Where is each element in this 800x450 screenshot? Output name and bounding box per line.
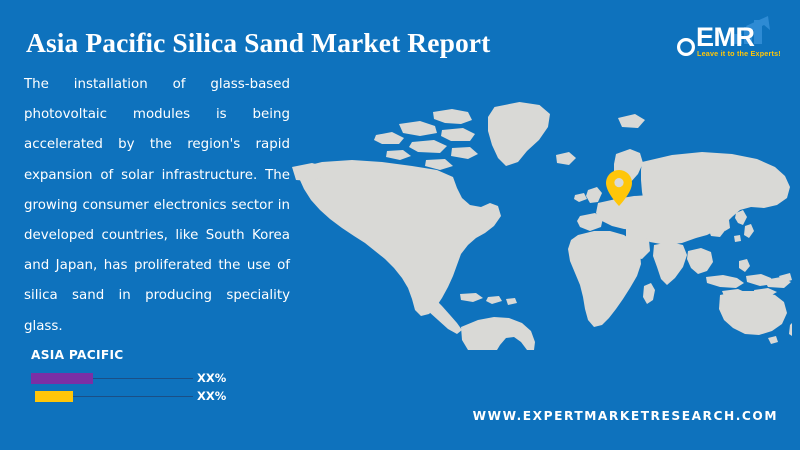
map-pin-asia-pacific — [606, 170, 632, 206]
legend-connector-line — [73, 396, 193, 397]
emr-logo[interactable]: EMR Leave it to the Experts! — [676, 14, 780, 62]
logo-ring-icon — [679, 40, 694, 55]
world-map — [292, 92, 792, 350]
legend-bar-purple — [31, 373, 93, 384]
legend-value: XX% — [197, 389, 231, 403]
legend: ASIA PACIFIC XX% XX% — [31, 348, 231, 406]
legend-connector-line — [93, 378, 193, 379]
footer-website-url[interactable]: WWW.EXPERTMARKETRESEARCH.COM — [0, 409, 778, 423]
page-title: Asia Pacific Silica Sand Market Report — [26, 26, 546, 60]
logo-tagline: Leave it to the Experts! — [697, 49, 780, 58]
world-map-landmasses — [292, 102, 792, 350]
logo-wordmark: EMR — [696, 22, 755, 52]
body-paragraph: The installation of glass-based photovol… — [24, 70, 290, 342]
legend-item: XX% — [31, 370, 231, 386]
legend-title: ASIA PACIFIC — [31, 348, 231, 362]
report-slide: Asia Pacific Silica Sand Market Report T… — [0, 0, 800, 450]
legend-bar-yellow — [35, 391, 73, 402]
legend-value: XX% — [197, 371, 231, 385]
legend-item: XX% — [31, 388, 231, 404]
